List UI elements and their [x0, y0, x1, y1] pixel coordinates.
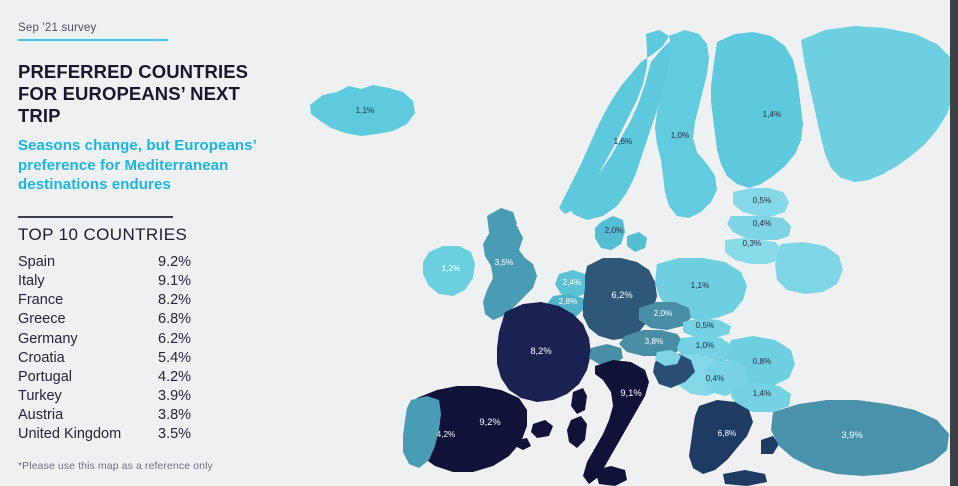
list-item: Greece 6.8% — [18, 310, 198, 329]
country-value: 3.5% — [152, 425, 198, 444]
map-label-finland: 1,4% — [763, 110, 782, 119]
map-label-germany: 6,2% — [611, 289, 632, 300]
map-label-estonia: 0,5% — [753, 196, 772, 205]
region-denmark-isles[interactable] — [627, 232, 647, 252]
country-value: 9.1% — [152, 272, 198, 291]
map-label-poland: 1,1% — [691, 281, 710, 290]
country-value: 5.4% — [152, 349, 198, 368]
map-label-hungary: 1,0% — [696, 341, 715, 350]
map-label-latvia: 0,4% — [753, 219, 772, 228]
region-balearics[interactable] — [531, 420, 553, 438]
infographic-root: 1,1% 1,6% 1,0% 1,4% 0,5% 0,4% 0,3% 2,0% … — [0, 0, 958, 486]
country-value: 6.8% — [152, 310, 198, 329]
country-name: Portugal — [18, 368, 72, 387]
page-subtitle: Seasons change, but Europeans’ preferenc… — [18, 136, 282, 194]
map-label-sweden: 1,0% — [671, 131, 690, 140]
country-name: Italy — [18, 272, 45, 291]
list-item: Italy 9.1% — [18, 272, 198, 291]
region-sardinia[interactable] — [567, 416, 587, 448]
map-label-turkey: 3,9% — [841, 429, 862, 440]
country-name: United Kingdom — [18, 425, 121, 444]
map-label-netherlands: 2,4% — [563, 278, 582, 287]
map-label-bulgaria: 1,4% — [753, 389, 772, 398]
country-name: Greece — [18, 310, 66, 329]
map-label-portugal: 4,2% — [437, 430, 456, 439]
list-item: Germany 6.2% — [18, 330, 198, 349]
left-content-panel: Sep '21 survey PREFERRED COUNTRIES FOR E… — [0, 0, 300, 486]
map-label-iceland: 1,1% — [356, 106, 375, 115]
list-item: Turkey 3.9% — [18, 387, 198, 406]
region-corsica[interactable] — [571, 388, 587, 414]
country-name: Croatia — [18, 349, 65, 368]
country-value: 3.9% — [152, 387, 198, 406]
map-label-greece: 6,8% — [718, 429, 737, 438]
region-russia-northwest[interactable] — [801, 26, 955, 182]
country-value: 4.2% — [152, 368, 198, 387]
top10-heading: TOP 10 COUNTRIES — [18, 225, 282, 245]
map-label-austria: 3,8% — [645, 337, 664, 346]
top10-list: Spain 9.2% Italy 9.1% France 8.2% Greece… — [18, 253, 198, 444]
map-svg: 1,1% 1,6% 1,0% 1,4% 0,5% 0,4% 0,3% 2,0% … — [265, 0, 958, 486]
country-value: 6.2% — [152, 330, 198, 349]
top10-divider — [18, 216, 173, 218]
map-label-slovakia: 0,5% — [696, 321, 715, 330]
region-sicily[interactable] — [595, 466, 627, 486]
map-label-norway: 1,6% — [614, 137, 633, 146]
country-name: Germany — [18, 330, 78, 349]
europe-choropleth-map: 1,1% 1,6% 1,0% 1,4% 0,5% 0,4% 0,3% 2,0% … — [265, 0, 958, 486]
region-crete[interactable] — [723, 470, 767, 486]
country-name: France — [18, 291, 63, 310]
list-item: Spain 9.2% — [18, 253, 198, 272]
map-label-france: 8,2% — [530, 345, 551, 356]
map-label-lithuania: 0,3% — [743, 239, 762, 248]
country-name: Turkey — [18, 387, 62, 406]
map-label-spain: 9,2% — [479, 416, 500, 427]
survey-kicker-text: Sep '21 survey — [18, 22, 168, 39]
map-label-croatia: 0,4% — [706, 374, 725, 383]
region-finland[interactable] — [711, 32, 803, 188]
list-item: Croatia 5.4% — [18, 349, 198, 368]
list-item: Portugal 4.2% — [18, 368, 198, 387]
footnote: *Please use this map as a reference only — [18, 460, 282, 472]
map-label-italy: 9,1% — [620, 387, 641, 398]
country-value: 9.2% — [152, 253, 198, 272]
map-label-ireland: 1,2% — [442, 264, 461, 273]
country-name: Spain — [18, 253, 55, 272]
region-belarus[interactable] — [775, 242, 843, 294]
region-italy[interactable] — [583, 360, 649, 484]
list-item: France 8.2% — [18, 291, 198, 310]
country-name: Austria — [18, 406, 63, 425]
country-value: 8.2% — [152, 291, 198, 310]
list-item: Austria 3.8% — [18, 406, 198, 425]
page-title: PREFERRED COUNTRIES FOR EUROPEANS’ NEXT … — [18, 61, 282, 126]
kicker-underline — [18, 39, 168, 41]
map-label-belgium: 2,8% — [559, 297, 578, 306]
country-value: 3.8% — [152, 406, 198, 425]
map-label-united-kingdom: 3,5% — [495, 258, 514, 267]
map-label-czechia: 2,0% — [654, 309, 673, 318]
list-item: United Kingdom 3.5% — [18, 425, 198, 444]
map-label-denmark: 2,0% — [605, 226, 624, 235]
map-label-romania: 0,8% — [753, 357, 772, 366]
survey-kicker: Sep '21 survey — [18, 22, 168, 41]
right-edge-strip — [950, 0, 958, 486]
